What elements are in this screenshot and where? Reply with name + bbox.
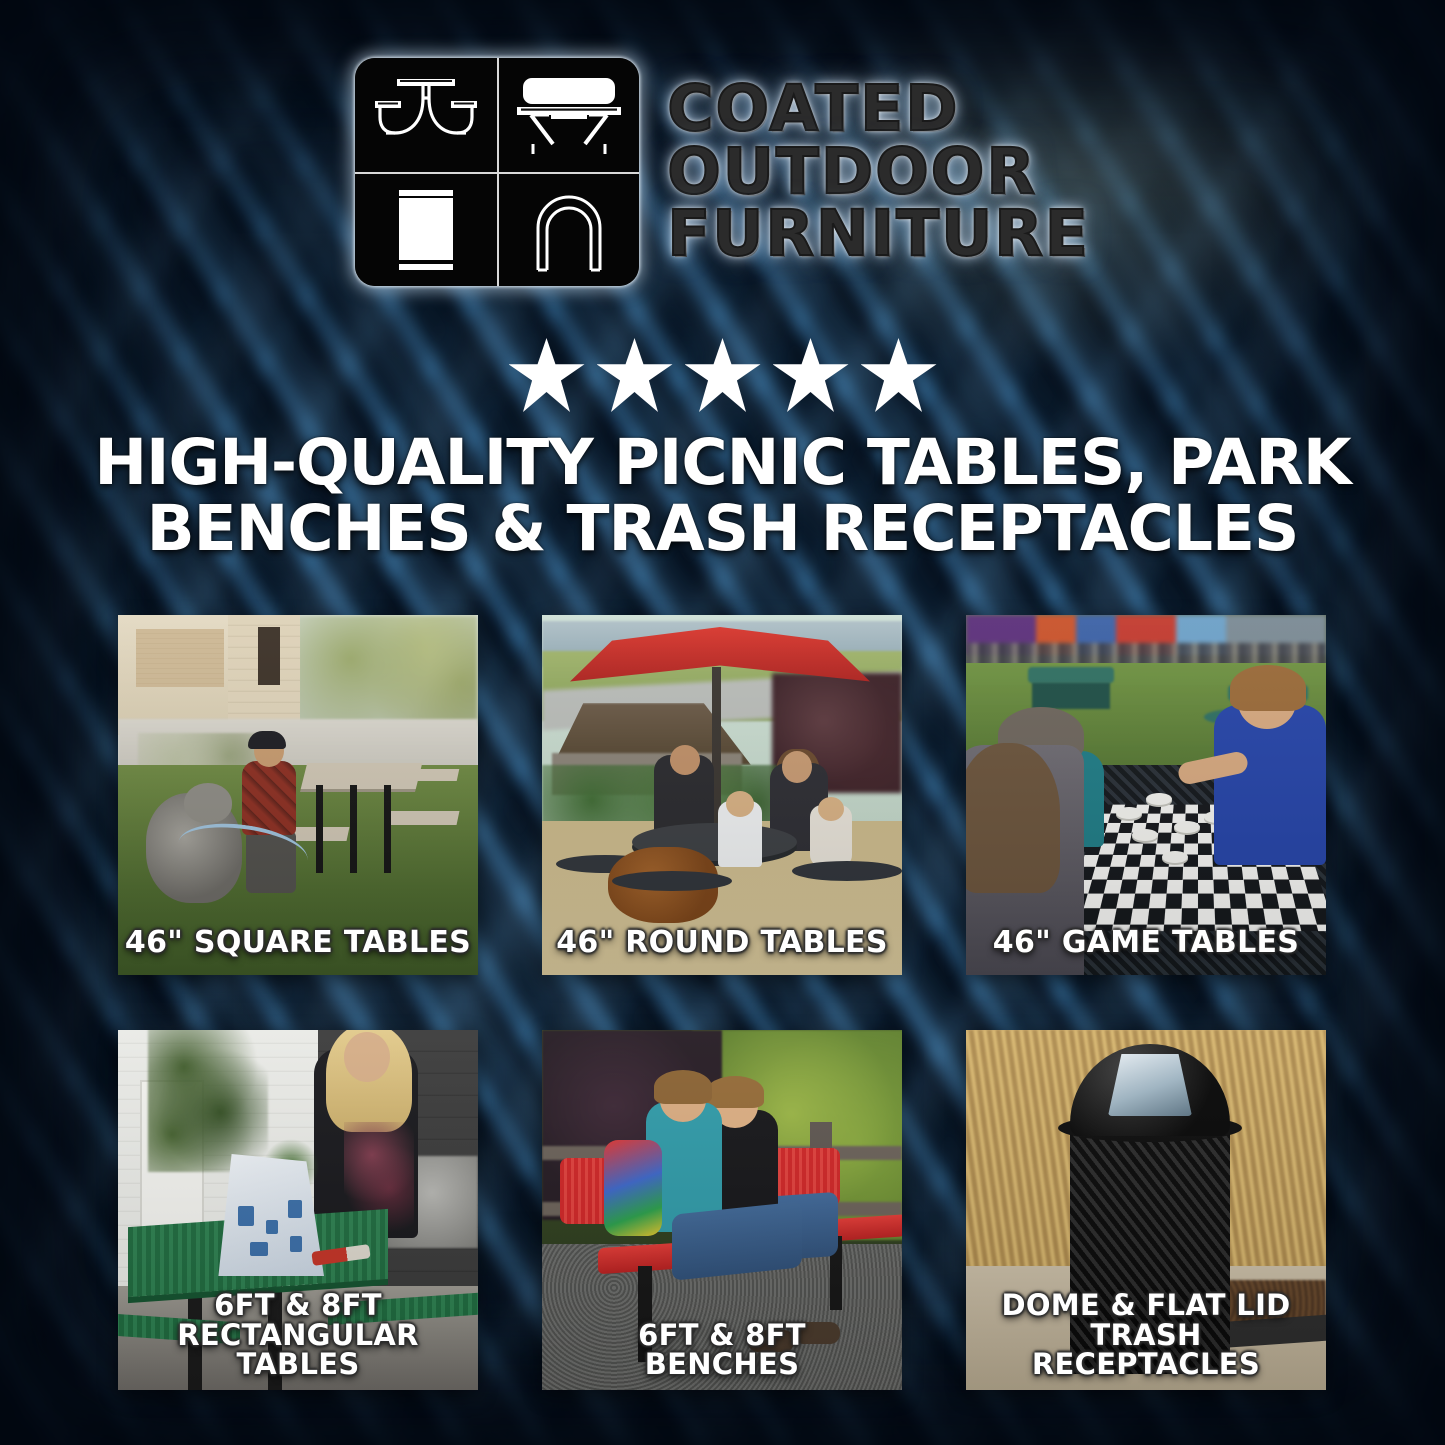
caption-line-2: RECTANGULAR TABLES: [124, 1321, 472, 1380]
star-icon-2: [597, 338, 673, 412]
tile-caption-square-tables: 46" SQUARE TABLES: [124, 928, 472, 959]
tile-caption-round-tables: 46" ROUND TABLES: [548, 928, 896, 959]
trash-receptacle-icon: [355, 172, 497, 286]
tile-photo-square-tables: [118, 615, 478, 975]
product-tile-round-tables[interactable]: 46" ROUND TABLES: [542, 615, 902, 975]
caption-line-1: 46" ROUND TABLES: [556, 925, 887, 960]
product-tile-benches[interactable]: 6FT & 8FT BENCHES: [542, 1030, 902, 1390]
tile-caption-game-tables: 46" GAME TABLES: [972, 928, 1320, 959]
tile-caption-rectangular-tables: 6FT & 8FT RECTANGULAR TABLES: [124, 1291, 472, 1380]
product-tile-trash-receptacles[interactable]: DOME & FLAT LID TRASH RECEPTACLES: [966, 1030, 1326, 1390]
promo-graphic: COATED OUTDOOR FURNITURE HIGH-QUALITY PI…: [0, 0, 1445, 1445]
arch-bench-icon: [497, 172, 639, 286]
star-icon-1: [509, 338, 585, 412]
star-icon-4: [773, 338, 849, 412]
headline: HIGH-QUALITY PICNIC TABLES, PARK BENCHES…: [70, 430, 1375, 561]
bench-side-icon: [497, 58, 639, 172]
product-tile-game-tables[interactable]: 46" GAME TABLES: [966, 615, 1326, 975]
headline-line-1: HIGH-QUALITY PICNIC TABLES, PARK: [70, 430, 1375, 496]
picnic-table-icon: [355, 58, 497, 172]
tile-caption-trash-receptacles: DOME & FLAT LID TRASH RECEPTACLES: [972, 1291, 1320, 1380]
caption-line-2: BENCHES: [548, 1350, 896, 1380]
brand-line-2: OUTDOOR: [667, 142, 1090, 202]
tile-caption-benches: 6FT & 8FT BENCHES: [548, 1321, 896, 1380]
brand-line-3: FURNITURE: [667, 204, 1090, 264]
caption-line-2: TRASH RECEPTACLES: [972, 1321, 1320, 1380]
brand-header: COATED OUTDOOR FURNITURE: [0, 58, 1445, 286]
caption-line-1: 46" GAME TABLES: [993, 925, 1299, 960]
brand-line-1: COATED: [667, 79, 1090, 139]
tile-photo-round-tables: [542, 615, 902, 975]
product-tile-grid: 46" SQUARE TABLES: [118, 615, 1327, 1390]
brand-logo-mark: [355, 58, 639, 286]
product-tile-square-tables[interactable]: 46" SQUARE TABLES: [118, 615, 478, 975]
star-icon-5: [861, 338, 937, 412]
star-icon-3: [685, 338, 761, 412]
tile-photo-game-tables: [966, 615, 1326, 975]
star-rating: [0, 338, 1445, 412]
headline-line-2: BENCHES & TRASH RECEPTACLES: [70, 496, 1375, 562]
caption-line-1: 46" SQUARE TABLES: [125, 925, 471, 960]
brand-wordmark: COATED OUTDOOR FURNITURE: [667, 79, 1090, 264]
product-tile-rectangular-tables[interactable]: 6FT & 8FT RECTANGULAR TABLES: [118, 1030, 478, 1390]
